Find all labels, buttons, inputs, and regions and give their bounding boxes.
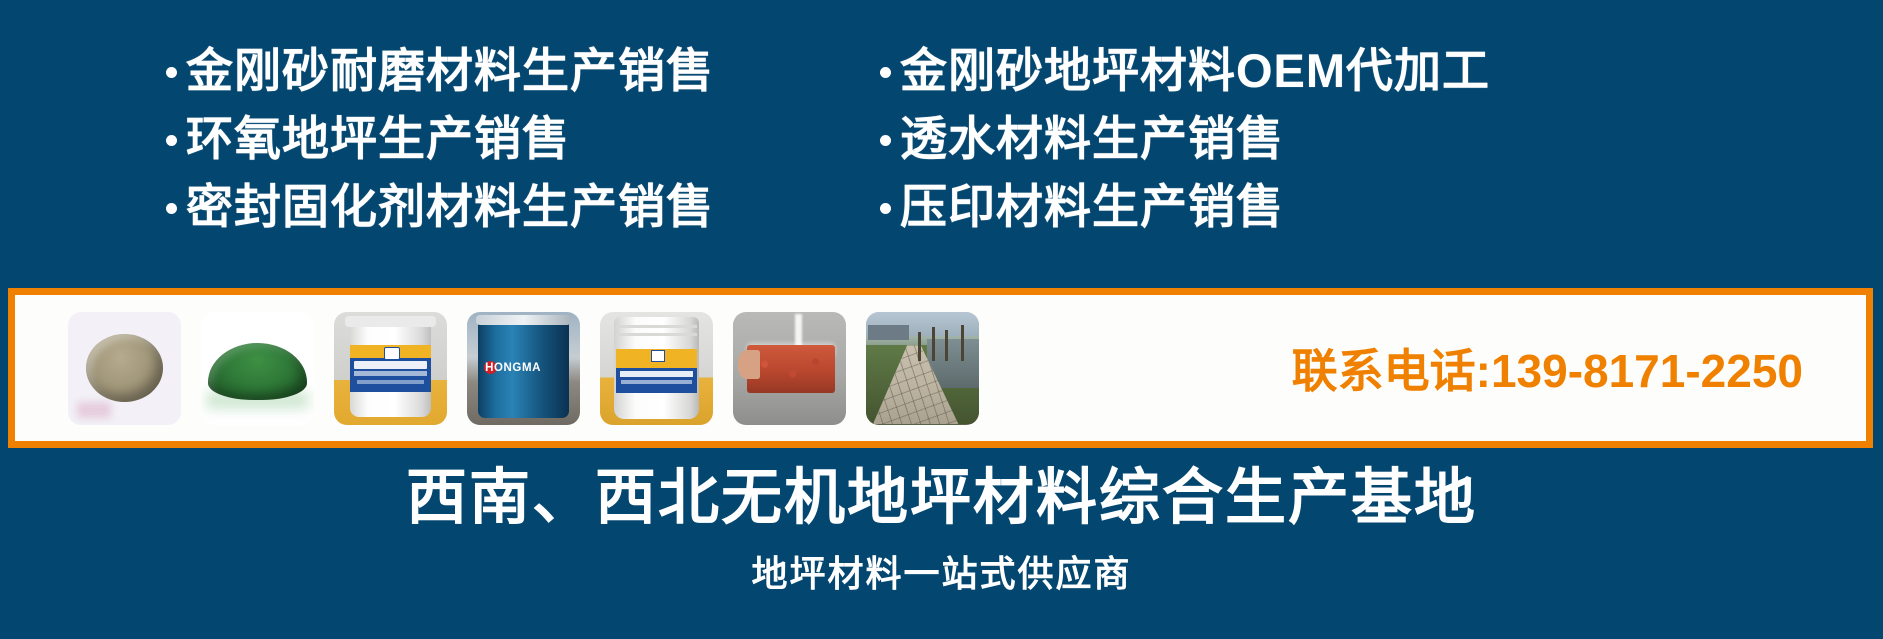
contact-phone[interactable]: 联系电话:139-8171-2250 <box>1292 335 1866 401</box>
feature-item-label: 环氧地坪生产销售 <box>186 112 570 166</box>
stamped-concrete-path-photo <box>866 312 979 425</box>
sealer-pail-photo <box>334 312 447 425</box>
product-thumbnail-list: HONGMA <box>15 312 979 425</box>
feature-item: 金刚砂耐磨材料生产销售 <box>166 44 880 98</box>
hongma-brand-text: HONGMA <box>485 362 573 374</box>
feature-lists: 金刚砂耐磨材料生产销售 环氧地坪生产销售 密封固化剂材料生产销售 金刚砂地坪材料… <box>0 44 1883 284</box>
bullet-dot-icon <box>880 135 891 146</box>
headline: 西南、西北无机地坪材料综合生产基地 <box>0 462 1883 532</box>
feature-column-left: 金刚砂耐磨材料生产销售 环氧地坪生产销售 密封固化剂材料生产销售 <box>0 44 880 284</box>
feature-item: 压印材料生产销售 <box>880 180 1883 234</box>
feature-column-right: 金刚砂地坪材料OEM代加工 透水材料生产销售 压印材料生产销售 <box>880 44 1883 284</box>
feature-item-label: 金刚砂耐磨材料生产销售 <box>186 44 714 98</box>
bullet-dot-icon <box>166 203 177 214</box>
product-showcase-panel: HONGMA 联系电话:139-8171-2250 <box>8 288 1873 448</box>
permeable-paver-photo <box>733 312 846 425</box>
green-powder-heap-photo <box>201 312 314 425</box>
feature-item: 金刚砂地坪材料OEM代加工 <box>880 44 1883 98</box>
bullet-dot-icon <box>166 67 177 78</box>
feature-item: 密封固化剂材料生产销售 <box>166 180 880 234</box>
feature-item-label: 透水材料生产销售 <box>900 112 1284 166</box>
feature-item: 环氧地坪生产销售 <box>166 112 880 166</box>
hongma-drum-photo: HONGMA <box>467 312 580 425</box>
bullet-dot-icon <box>880 203 891 214</box>
advertisement-banner: 金刚砂耐磨材料生产销售 环氧地坪生产销售 密封固化剂材料生产销售 金刚砂地坪材料… <box>0 0 1883 639</box>
bullet-dot-icon <box>880 67 891 78</box>
epoxy-pail-photo <box>600 312 713 425</box>
feature-item-label: 金刚砂地坪材料OEM代加工 <box>900 44 1490 98</box>
grey-powder-heap-photo <box>68 312 181 425</box>
feature-item-label: 压印材料生产销售 <box>900 180 1284 234</box>
bullet-dot-icon <box>166 135 177 146</box>
subheadline: 地坪材料一站式供应商 <box>0 552 1883 596</box>
feature-item: 透水材料生产销售 <box>880 112 1883 166</box>
feature-item-label: 密封固化剂材料生产销售 <box>186 180 714 234</box>
